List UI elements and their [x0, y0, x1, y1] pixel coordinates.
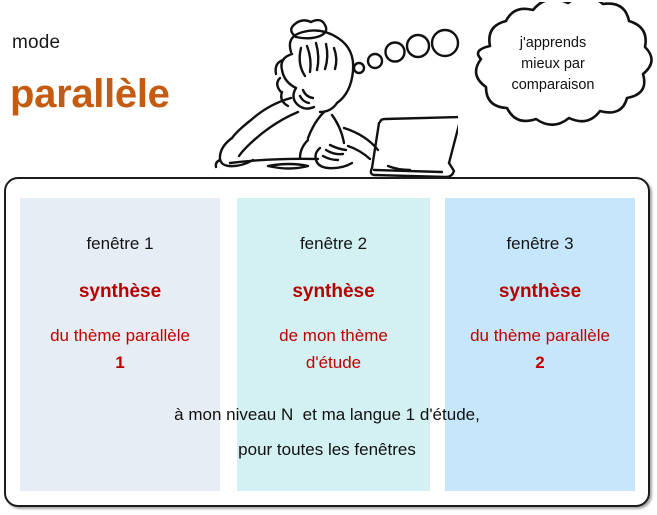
window-column-2-title: fenêtre 2	[237, 234, 430, 254]
window-column-3-desc-line1: du thème parallèle	[470, 326, 610, 345]
window-column-1-description: du thème parallèle 1	[20, 322, 220, 376]
window-column-2-description: de mon thème d'étude	[237, 322, 430, 376]
window-column-3[interactable]: fenêtre 3 synthèse du thème parallèle 2	[445, 198, 635, 491]
window-column-2-desc-line1: de mon thème	[279, 326, 388, 345]
window-column-1-desc-line1: du thème parallèle	[50, 326, 190, 345]
mode-label: mode	[12, 32, 60, 54]
window-column-2-synthesis: synthèse	[237, 281, 430, 303]
parallel-mode-panel: fenêtre 1 synthèse du thème parallèle 1 …	[4, 177, 650, 507]
window-column-1-synthesis: synthèse	[20, 281, 220, 303]
cloud-text-line-2: mieux par	[478, 54, 628, 75]
window-column-3-title: fenêtre 3	[445, 234, 635, 254]
thought-bubble-dots-icon	[340, 18, 470, 78]
thought-cloud-text: j'apprends mieux par comparaison	[478, 33, 628, 96]
window-column-2[interactable]: fenêtre 2 synthèse de mon thème d'étude	[237, 198, 430, 491]
page-title: parallèle	[10, 72, 170, 117]
header-area: mode parallèle	[0, 0, 657, 178]
window-columns: fenêtre 1 synthèse du thème parallèle 1 …	[6, 179, 648, 505]
window-column-1[interactable]: fenêtre 1 synthèse du thème parallèle 1	[20, 198, 220, 491]
cloud-text-line-3: comparaison	[478, 75, 628, 96]
window-column-3-description: du thème parallèle 2	[445, 322, 635, 376]
window-column-2-desc-line2: d'étude	[306, 353, 361, 372]
window-column-3-desc-line2: 2	[535, 353, 544, 372]
window-column-1-title: fenêtre 1	[20, 234, 220, 254]
window-column-3-synthesis: synthèse	[445, 281, 635, 303]
cloud-text-line-1: j'apprends	[478, 33, 628, 54]
window-column-1-desc-line2: 1	[115, 353, 124, 372]
